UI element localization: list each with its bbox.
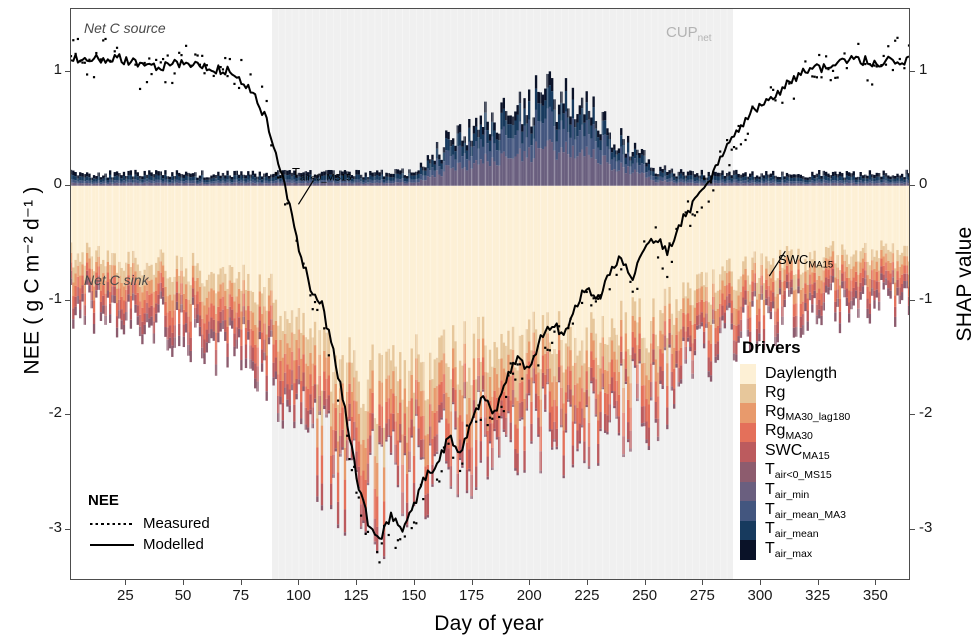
driver-label-main: Rg <box>765 422 785 439</box>
chart-figure: NEE ( g C m⁻² d⁻¹ ) SHAP value Day of ye… <box>0 0 978 639</box>
drivers-legend: Drivers DaylengthRgRgMA30_lag180RgMA30SW… <box>740 338 850 560</box>
tair-ms15-annotation: Tair<0_MS15 <box>292 165 351 184</box>
y-axis-right-tick-mark <box>910 300 915 301</box>
y-axis-right-tick-mark <box>910 529 915 530</box>
drivers-legend-items: DaylengthRgRgMA30_lag180RgMA30SWCMA15Tai… <box>740 364 850 560</box>
net-c-sink-label: Net C sink <box>84 272 149 288</box>
driver-color-swatch <box>740 540 756 560</box>
driver-color-swatch <box>740 384 756 404</box>
y-axis-right-tick-label: -2 <box>919 404 932 421</box>
swc-ma15-annotation: SWCMA15 <box>778 252 833 271</box>
driver-color-swatch <box>740 521 756 541</box>
driver-legend-item[interactable]: SWCMA15 <box>740 442 850 462</box>
y-axis-left-title: NEE ( g C m⁻² d⁻¹ ) <box>20 21 45 541</box>
cup-net-label-main: CUP <box>666 24 698 41</box>
y-axis-right-tick-label: -1 <box>919 290 932 307</box>
driver-legend-item[interactable]: Tair<0_MS15 <box>740 462 850 482</box>
y-axis-right-tick-mark <box>910 71 915 72</box>
driver-label-main: SWC <box>765 442 802 459</box>
driver-legend-label: Rg <box>765 385 785 401</box>
driver-legend-label: RgMA30 <box>765 423 813 442</box>
driver-color-swatch <box>740 442 756 462</box>
y-axis-right-tick-mark <box>910 414 915 415</box>
y-axis-right-tick-label: 1 <box>919 61 927 78</box>
y-axis-right-tick-mark <box>910 185 915 186</box>
driver-label-main: T <box>765 461 775 478</box>
driver-legend-item[interactable]: Tair_mean <box>740 521 850 541</box>
driver-label-sub: air_max <box>775 548 812 560</box>
y-axis-tick-label: -3 <box>49 519 62 536</box>
x-axis-tick-mark <box>472 580 473 585</box>
x-axis-tick-mark <box>125 580 126 585</box>
driver-color-swatch <box>740 482 756 502</box>
nee-legend: NEE MeasuredModelled <box>88 492 210 555</box>
net-c-source-label: Net C source <box>84 20 166 36</box>
driver-color-swatch <box>740 403 756 423</box>
y-axis-right-title: SHAP value <box>953 24 977 544</box>
x-axis-tick-label: 200 <box>509 587 549 604</box>
driver-label-sub: air<0_MS15 <box>775 470 832 482</box>
x-axis-tick-mark <box>818 580 819 585</box>
driver-legend-item[interactable]: Tair_mean_MA3 <box>740 501 850 521</box>
x-axis-tick-label: 50 <box>163 587 203 604</box>
driver-label-main: T <box>765 501 775 518</box>
driver-label-main: T <box>765 481 775 498</box>
x-axis-tick-mark <box>587 580 588 585</box>
x-axis-tick-label: 100 <box>278 587 318 604</box>
y-axis-tick-mark <box>65 185 70 186</box>
nee-line-key-solid <box>88 539 136 551</box>
y-axis-tick-label: 0 <box>54 175 62 192</box>
driver-label-main: Rg <box>765 403 785 420</box>
y-axis-tick-mark <box>65 300 70 301</box>
x-axis-tick-label: 175 <box>452 587 492 604</box>
swc-ma15-annotation-main: SWC <box>778 252 808 267</box>
driver-label-main: Daylength <box>765 365 837 382</box>
driver-legend-item[interactable]: Daylength <box>740 364 850 384</box>
y-axis-tick-label: 1 <box>54 61 62 78</box>
x-axis-tick-label: 25 <box>105 587 145 604</box>
x-axis-tick-label: 325 <box>798 587 838 604</box>
x-axis-tick-mark <box>875 580 876 585</box>
y-axis-tick-mark <box>65 71 70 72</box>
driver-legend-label: Tair_max <box>765 541 812 560</box>
driver-label-main: T <box>765 520 775 537</box>
driver-legend-item[interactable]: Rg <box>740 384 850 404</box>
x-axis-tick-label: 150 <box>394 587 434 604</box>
x-axis-tick-label: 75 <box>221 587 261 604</box>
nee-legend-item[interactable]: Modelled <box>88 534 210 555</box>
driver-label-sub: air_mean_MA3 <box>775 509 846 521</box>
x-axis-tick-mark <box>760 580 761 585</box>
drivers-legend-title: Drivers <box>742 338 850 358</box>
y-axis-right-tick-label: 0 <box>919 175 927 192</box>
tair-ms15-annotation-sub: air<0_MS15 <box>300 173 352 184</box>
driver-legend-label: Tair_mean_MA3 <box>765 502 846 521</box>
x-axis-tick-mark <box>298 580 299 585</box>
driver-color-swatch <box>740 423 756 443</box>
x-axis-tick-label: 125 <box>336 587 376 604</box>
driver-label-main: Rg <box>765 384 785 401</box>
driver-legend-label: Tair<0_MS15 <box>765 462 832 481</box>
x-axis-tick-mark <box>414 580 415 585</box>
x-axis-tick-mark <box>645 580 646 585</box>
driver-label-sub: air_min <box>775 489 809 501</box>
driver-legend-item[interactable]: Tair_min <box>740 482 850 502</box>
driver-legend-label: Tair_mean <box>765 521 819 540</box>
x-axis-tick-label: 350 <box>855 587 895 604</box>
nee-legend-items: MeasuredModelled <box>88 513 210 555</box>
driver-label-sub: MA30 <box>785 430 812 442</box>
driver-legend-item[interactable]: Tair_max <box>740 540 850 560</box>
x-axis-tick-label: 225 <box>567 587 607 604</box>
cup-net-label: CUPnet <box>666 24 712 44</box>
driver-label-main: T <box>765 540 775 557</box>
x-axis-tick-mark <box>356 580 357 585</box>
swc-ma15-annotation-sub: MA15 <box>808 260 833 271</box>
driver-legend-label: Tair_min <box>765 482 809 501</box>
driver-color-swatch <box>740 462 756 482</box>
nee-legend-label: Measured <box>143 515 210 532</box>
y-axis-tick-mark <box>65 414 70 415</box>
x-axis-tick-label: 250 <box>625 587 665 604</box>
x-axis-tick-label: 275 <box>682 587 722 604</box>
driver-legend-label: RgMA30_lag180 <box>765 404 850 423</box>
cup-net-label-sub: net <box>698 33 712 44</box>
x-axis-title: Day of year <box>0 612 978 636</box>
nee-legend-label: Modelled <box>143 536 204 553</box>
x-axis-tick-mark <box>702 580 703 585</box>
x-axis-tick-mark <box>529 580 530 585</box>
driver-legend-item[interactable]: RgMA30_lag180 <box>740 403 850 423</box>
driver-legend-label: SWCMA15 <box>765 443 830 462</box>
y-axis-tick-label: -1 <box>49 290 62 307</box>
nee-line-key-dotted <box>88 518 136 530</box>
y-axis-tick-mark <box>65 529 70 530</box>
driver-label-sub: MA30_lag180 <box>785 411 850 423</box>
nee-legend-item[interactable]: Measured <box>88 513 210 534</box>
driver-label-sub: MA15 <box>802 450 829 462</box>
driver-color-swatch <box>740 364 756 384</box>
driver-legend-item[interactable]: RgMA30 <box>740 423 850 443</box>
y-axis-tick-label: -2 <box>49 404 62 421</box>
x-axis-tick-mark <box>183 580 184 585</box>
nee-legend-title: NEE <box>88 492 210 509</box>
x-axis-tick-label: 300 <box>740 587 780 604</box>
driver-color-swatch <box>740 501 756 521</box>
tair-ms15-annotation-main: T <box>292 165 300 180</box>
y-axis-right-tick-label: -3 <box>919 519 932 536</box>
driver-legend-label: Daylength <box>765 366 837 382</box>
driver-label-sub: air_mean <box>775 528 819 540</box>
x-axis-tick-mark <box>241 580 242 585</box>
